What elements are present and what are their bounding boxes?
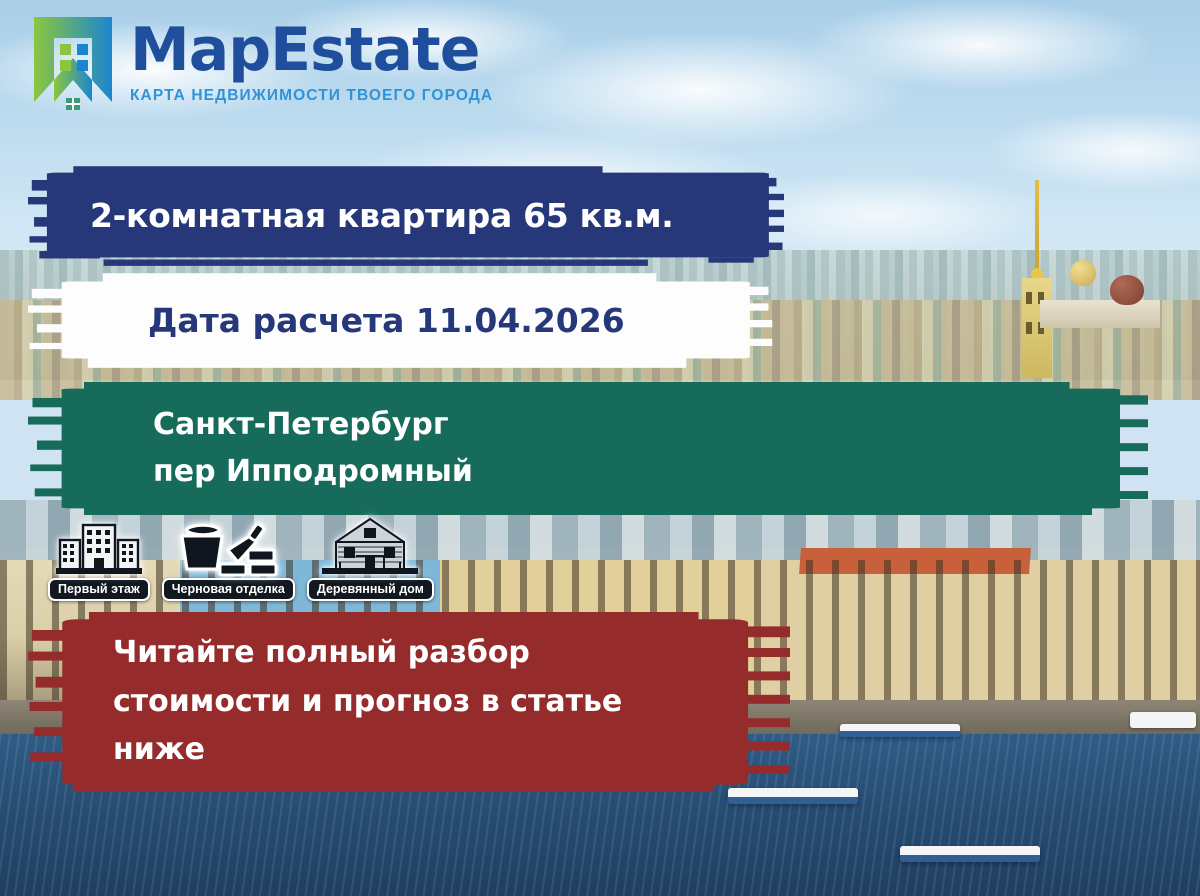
brand-logo[interactable]: MapEstate КАРТА НЕДВИЖИМОСТИ ТВОЕГО ГОРО… bbox=[30, 14, 493, 110]
badge-first-floor[interactable]: Первый этаж bbox=[48, 520, 150, 601]
cathedral-roof bbox=[1040, 300, 1160, 328]
peter-and-paul-spire-icon bbox=[1020, 180, 1054, 400]
brand-name: MapEstate bbox=[130, 20, 493, 80]
river-boat-icon bbox=[900, 846, 1040, 862]
cta-line-2: стоимости и прогноз в статье bbox=[113, 678, 622, 727]
red-dome-icon bbox=[1110, 275, 1144, 305]
date-banner: Дата расчета 11.04.2026 bbox=[28, 268, 776, 372]
moored-boat-icon bbox=[840, 724, 960, 737]
location-banner-text: Санкт-Петербург пер Ипподромный bbox=[28, 402, 473, 495]
badge-rough-finish[interactable]: Черновая отделка bbox=[162, 520, 295, 601]
paint-bucket-trowel-icon bbox=[176, 520, 280, 576]
property-banner: 2-комнатная квартира 65 кв.м. bbox=[28, 162, 784, 268]
badge-wooden-house[interactable]: Деревянный дом bbox=[307, 516, 434, 601]
badge-label: Деревянный дом bbox=[307, 578, 434, 601]
cta-line-1: Читайте полный разбор bbox=[113, 629, 622, 678]
location-city: Санкт-Петербург bbox=[153, 402, 473, 449]
badge-label: Черновая отделка bbox=[162, 578, 295, 601]
cta-banner-text: Читайте полный разбор стоимости и прогно… bbox=[28, 629, 622, 775]
tour-bus-icon bbox=[1130, 712, 1196, 728]
cta-line-3: ниже bbox=[113, 726, 622, 775]
date-banner-text: Дата расчета 11.04.2026 bbox=[28, 301, 625, 340]
location-banner: Санкт-Петербург пер Ипподромный bbox=[28, 382, 1148, 515]
location-street: пер Ипподромный bbox=[153, 449, 473, 496]
property-banner-text: 2-комнатная квартира 65 кв.м. bbox=[28, 196, 673, 235]
promo-poster: MapEstate КАРТА НЕДВИЖИМОСТИ ТВОЕГО ГОРО… bbox=[0, 0, 1200, 896]
apartment-building-icon bbox=[56, 520, 142, 576]
bookmark-building-icon bbox=[30, 14, 116, 110]
brand-text-block: MapEstate КАРТА НЕДВИЖИМОСТИ ТВОЕГО ГОРО… bbox=[130, 14, 493, 105]
feature-badges: Первый этаж Черновая отделка bbox=[48, 516, 434, 601]
wooden-house-icon bbox=[322, 516, 418, 576]
badge-label: Первый этаж bbox=[48, 578, 150, 601]
brand-tagline: КАРТА НЕДВИЖИМОСТИ ТВОЕГО ГОРОДА bbox=[130, 87, 493, 105]
golden-dome-icon bbox=[1070, 260, 1096, 286]
cta-banner[interactable]: Читайте полный разбор стоимости и прогно… bbox=[28, 612, 790, 792]
